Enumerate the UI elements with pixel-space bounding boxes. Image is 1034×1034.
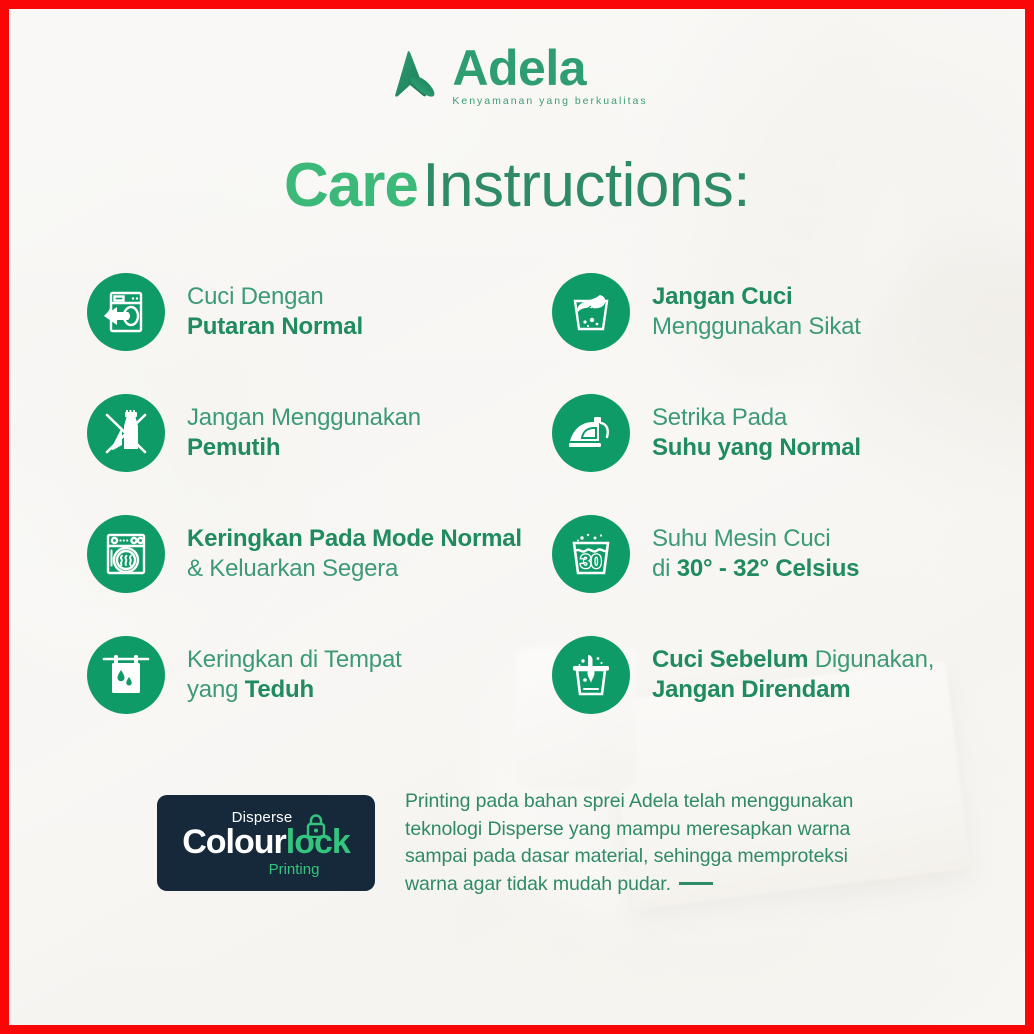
care-item-no-brush: Jangan Cuci Menggunakan Sikat xyxy=(526,273,965,351)
icon-badge xyxy=(87,636,165,714)
care-item-line1: Cuci Dengan xyxy=(187,282,363,312)
care-item-wash-temp-30: 30 Suhu Mesin Cuci di 30° - 32° Celsius xyxy=(526,515,965,593)
icon-badge: 30 xyxy=(552,515,630,593)
care-item-line2: Suhu yang Normal xyxy=(652,433,861,463)
icon-badge xyxy=(87,394,165,472)
footer-paragraph-line-last: warna agar tidak mudah pudar. xyxy=(405,871,853,899)
care-item-line2: Menggunakan Sikat xyxy=(652,312,861,342)
care-item-line2-part: 30° - 32° Celsius xyxy=(677,555,860,582)
tumble-dry-icon xyxy=(101,529,151,579)
page-title: Care Instructions: xyxy=(9,155,1025,217)
footer-paragraph: Printing pada bahan sprei Adela telah me… xyxy=(405,788,853,899)
colourlock-wordmark: Colourlock xyxy=(182,826,350,859)
footer-rule xyxy=(679,882,713,885)
page-title-strong: Care xyxy=(284,151,418,220)
care-item-line2: yang Teduh xyxy=(187,675,402,705)
care-item-no-bleach: Jangan Menggunakan Pemutih xyxy=(87,394,526,472)
iron-icon xyxy=(565,410,617,456)
care-item-line2-part: di xyxy=(652,555,677,582)
care-item-tumble-dry-normal: Keringkan Pada Mode Normal & Keluarkan S… xyxy=(87,515,526,593)
care-item-text: Keringkan Pada Mode Normal & Keluarkan S… xyxy=(187,524,522,584)
care-item-text: Jangan Cuci Menggunakan Sikat xyxy=(652,282,861,342)
brand-name: Adela xyxy=(452,43,647,93)
footer: Disperse Colourlock Printing Printing pa… xyxy=(9,788,1025,899)
care-item-line1: Jangan Cuci xyxy=(652,282,861,312)
care-item-wash-before-use: Cuci Sebelum Digunakan, Jangan Direndam xyxy=(526,636,965,714)
care-item-line1: Jangan Menggunakan xyxy=(187,403,421,433)
line-dry-shade-icon xyxy=(101,650,151,700)
care-item-line2-part: Teduh xyxy=(245,676,314,703)
care-item-line2: & Keluarkan Segera xyxy=(187,554,522,584)
care-item-line1: Setrika Pada xyxy=(652,403,861,433)
care-item-line1: Suhu Mesin Cuci xyxy=(652,524,859,554)
care-item-line2: Putaran Normal xyxy=(187,312,363,342)
padlock-icon xyxy=(305,814,327,838)
icon-badge xyxy=(87,515,165,593)
care-item-line-dry-shade: Keringkan di Tempat yang Teduh xyxy=(87,636,526,714)
icon-badge xyxy=(87,273,165,351)
washing-machine-icon xyxy=(101,287,151,337)
wash-before-use-no-soak-icon xyxy=(566,650,616,700)
colourlock-badge: Disperse Colourlock Printing xyxy=(157,795,375,891)
care-item-line1: Cuci Sebelum Digunakan, xyxy=(652,645,934,675)
care-instructions-poster: Adela Kenyamanan yang berkualitas Care I… xyxy=(0,0,1034,1034)
adela-a-mark-icon xyxy=(386,49,440,101)
page-title-light: Instructions: xyxy=(422,151,750,220)
footer-paragraph-line: sampai pada dasar material, sehingga mem… xyxy=(405,843,853,871)
footer-paragraph-line: teknologi Disperse yang mampu meresapkan… xyxy=(405,816,853,844)
care-item-line2: Jangan Direndam xyxy=(652,675,934,705)
brand-logo: Adela Kenyamanan yang berkualitas xyxy=(9,9,1025,107)
brand-tagline: Kenyamanan yang berkualitas xyxy=(452,95,647,107)
care-item-wash-normal-cycle: Cuci Dengan Putaran Normal xyxy=(87,273,526,351)
care-item-text: Setrika Pada Suhu yang Normal xyxy=(652,403,861,463)
wash-temp-30-icon: 30 xyxy=(566,529,616,579)
care-item-text: Suhu Mesin Cuci di 30° - 32° Celsius xyxy=(652,524,859,584)
icon-badge xyxy=(552,394,630,472)
care-item-iron-normal-temp: Setrika Pada Suhu yang Normal xyxy=(526,394,965,472)
care-item-line2: di 30° - 32° Celsius xyxy=(652,554,859,584)
care-item-line1: Keringkan di Tempat xyxy=(187,645,402,675)
care-item-line2: Pemutih xyxy=(187,433,421,463)
colourlock-printing-label: Printing xyxy=(269,861,320,878)
footer-paragraph-line: Printing pada bahan sprei Adela telah me… xyxy=(405,788,853,816)
no-bleach-icon xyxy=(100,407,152,459)
care-item-line2-part: yang xyxy=(187,676,245,703)
icon-badge xyxy=(552,273,630,351)
icon-badge xyxy=(552,636,630,714)
care-item-line1-part: Digunakan, xyxy=(815,646,934,673)
care-item-text: Jangan Menggunakan Pemutih xyxy=(187,403,421,463)
care-item-text: Keringkan di Tempat yang Teduh xyxy=(187,645,402,705)
colourlock-word-white: Colour xyxy=(182,823,286,861)
care-item-line1: Keringkan Pada Mode Normal xyxy=(187,524,522,554)
wash-temp-value: 30 xyxy=(580,552,601,573)
footer-paragraph-line: warna agar tidak mudah pudar. xyxy=(405,873,671,895)
care-item-line1-part: Cuci Sebelum xyxy=(652,646,815,673)
care-instruction-list: Cuci Dengan Putaran Normal xyxy=(9,273,1025,714)
hand-wash-no-brush-icon xyxy=(566,287,616,337)
care-item-text: Cuci Sebelum Digunakan, Jangan Direndam xyxy=(652,645,934,705)
care-item-text: Cuci Dengan Putaran Normal xyxy=(187,282,363,342)
